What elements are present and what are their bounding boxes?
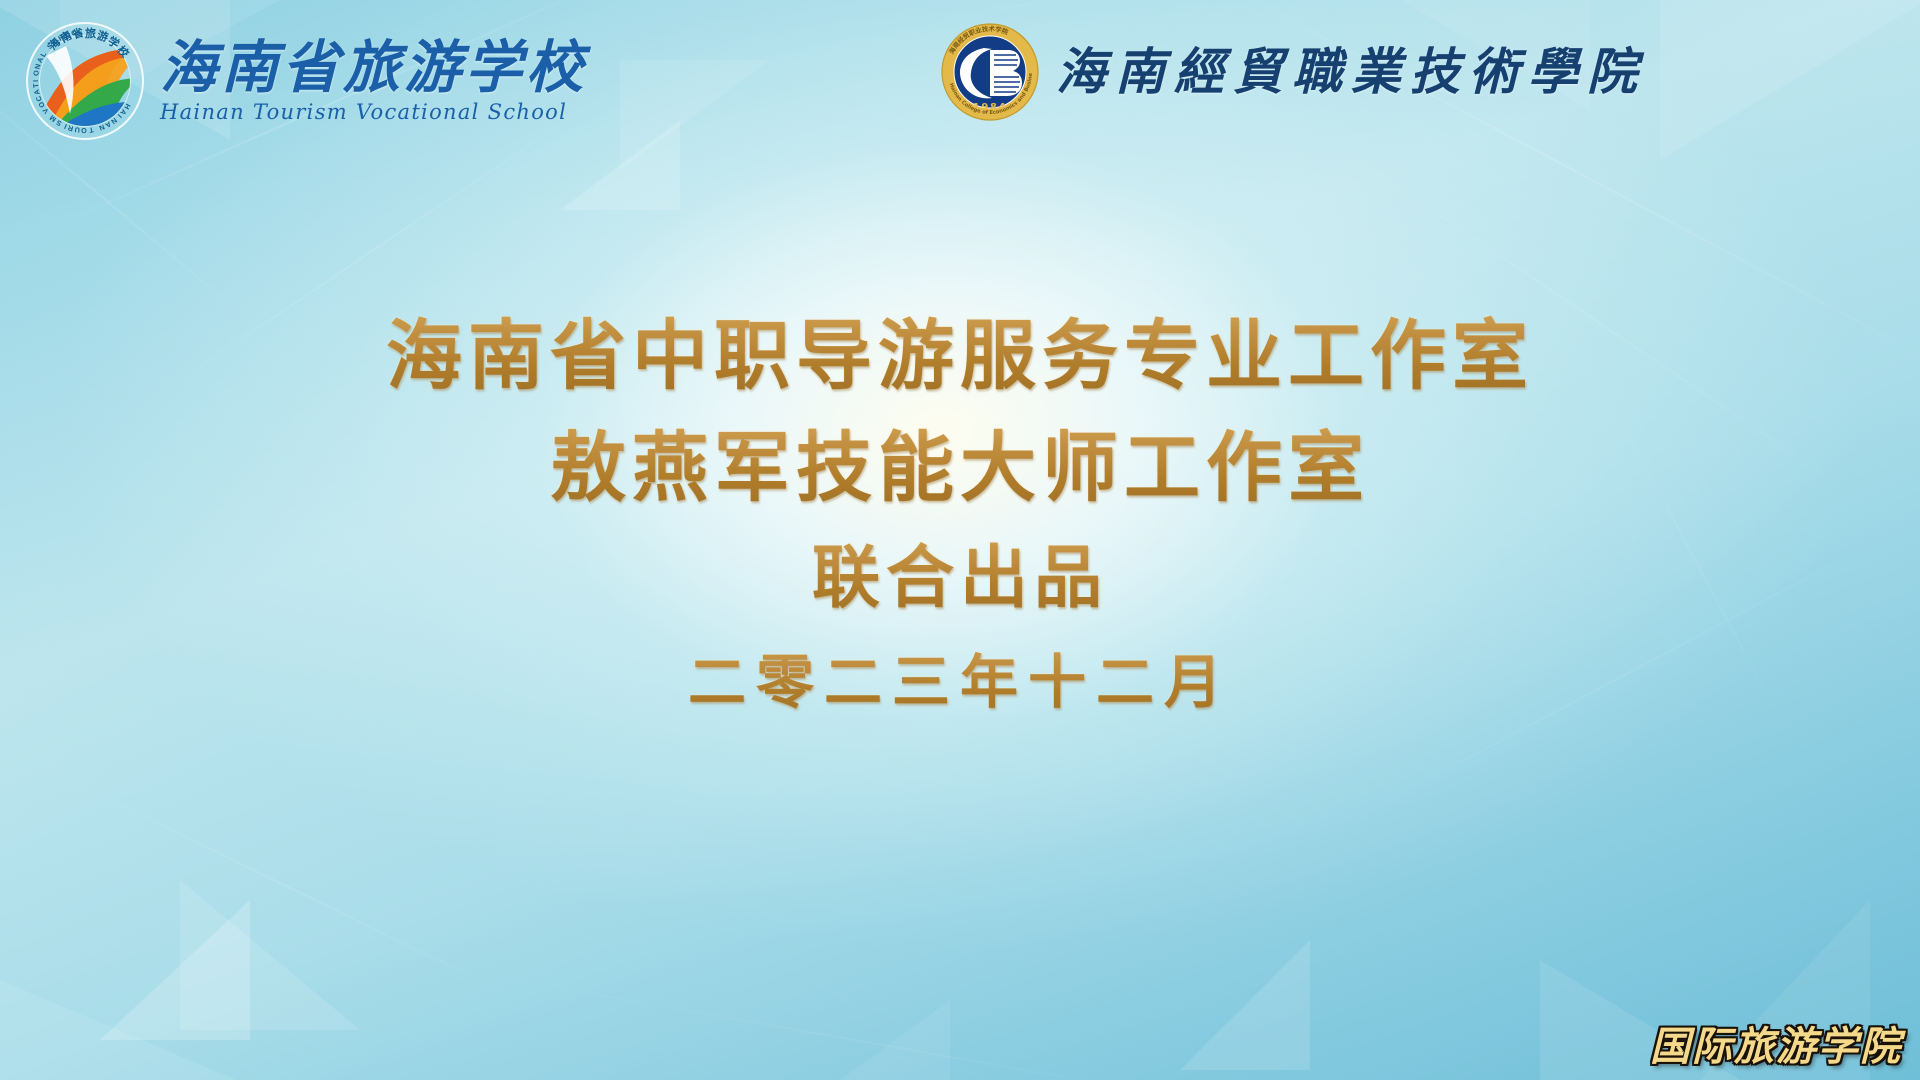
school-seal-icon: 海 南 省 旅 游 学 校 H A I N A N T O U <box>26 22 144 140</box>
school-name-english: Hainan Tourism Vocational School <box>160 100 587 124</box>
logo-hainan-college-economics-business: 1984 海南经贸职业技术学院 Hainan College of Econom… <box>940 22 1646 122</box>
college-name-chinese: 海南經貿職業技術學院 <box>1056 46 1646 99</box>
school-name-block-right: 海南經貿職業技術學院 <box>1056 46 1646 99</box>
school-name-chinese: 海南省旅游学校 <box>160 38 587 98</box>
title-line-3-credit: 联合出品 <box>0 524 1920 632</box>
college-seal-icon: 1984 海南经贸职业技术学院 Hainan College of Econom… <box>940 22 1040 122</box>
header-logos: 海 南 省 旅 游 学 校 H A I N A N T O U <box>0 0 1920 165</box>
watermark-international-tourism-college: 国际旅游学院 <box>1650 1014 1902 1072</box>
logo-hainan-tourism-vocational-school: 海 南 省 旅 游 学 校 H A I N A N T O U <box>26 22 587 140</box>
presentation-slide: 海 南 省 旅 游 学 校 H A I N A N T O U <box>0 0 1920 1080</box>
title-block: 海南省中职导游服务专业工作室 敖燕军技能大师工作室 联合出品 二零二三年十二月 <box>0 300 1920 732</box>
seal-english-arc-text: H A I N A N T O U R I S M V O C A <box>26 22 144 140</box>
college-seal-graphic: 1984 海南经贸职业技术学院 Hainan College of Econom… <box>940 22 1040 122</box>
title-line-1: 海南省中职导游服务专业工作室 <box>0 300 1920 412</box>
title-line-2: 敖燕军技能大师工作室 <box>0 412 1920 524</box>
school-name-block-left: 海南省旅游学校 Hainan Tourism Vocational School <box>160 38 587 125</box>
title-line-4-date: 二零二三年十二月 <box>0 632 1920 732</box>
